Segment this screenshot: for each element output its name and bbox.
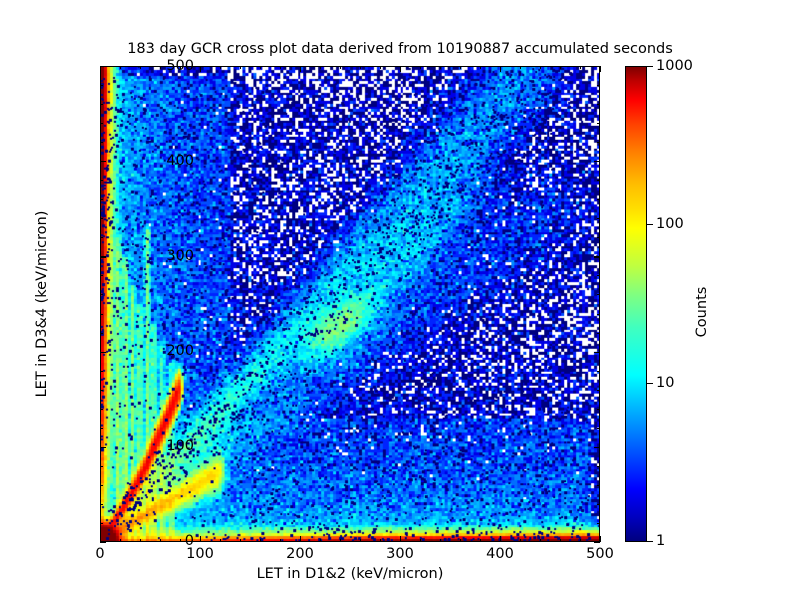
y-minor-tick-right-80: [597, 466, 600, 467]
y-minor-tick-80: [100, 466, 103, 467]
x-major-tick-top-500: [600, 66, 601, 72]
y-minor-tick-380: [100, 180, 103, 181]
colorbar-label-1: 1: [656, 533, 665, 549]
y-minor-tick-280: [100, 275, 103, 276]
x-minor-tick-top-280: [380, 66, 381, 69]
y-minor-tick-160: [100, 390, 103, 391]
y-minor-tick-right-440: [597, 123, 600, 124]
y-major-tick-right-200: [594, 352, 600, 353]
y-major-tick-200: [100, 352, 106, 353]
colorbar-gradient: [625, 66, 647, 542]
y-minor-tick-right-380: [597, 180, 600, 181]
x-minor-tick-360: [460, 539, 461, 542]
colorbar-label-100: 100: [656, 216, 684, 232]
y-minor-tick-120: [100, 428, 103, 429]
x-tick-label-200: 200: [260, 546, 340, 562]
y-major-tick-right-300: [594, 256, 600, 257]
y-minor-tick-right-320: [597, 237, 600, 238]
y-major-tick-right-500: [594, 66, 600, 67]
y-minor-tick-right-340: [597, 218, 600, 219]
y-major-tick-300: [100, 256, 106, 257]
y-minor-tick-right-280: [597, 275, 600, 276]
y-major-tick-right-0: [594, 542, 600, 543]
x-major-tick-100: [200, 536, 201, 542]
y-minor-tick-220: [100, 333, 103, 334]
y-minor-tick-40: [100, 504, 103, 505]
y-minor-tick-right-240: [597, 314, 600, 315]
y-minor-tick-140: [100, 409, 103, 410]
density-scatter-canvas: [101, 67, 599, 541]
title-line-1: 183 day GCR cross plot data derived from…: [0, 41, 800, 59]
x-tick-label-400: 400: [460, 546, 540, 562]
x-minor-tick-top-160: [260, 66, 261, 69]
colorbar-tick-1: [647, 541, 653, 542]
x-major-tick-500: [600, 536, 601, 542]
y-minor-tick-440: [100, 123, 103, 124]
x-major-tick-200: [300, 536, 301, 542]
x-minor-tick-top-240: [340, 66, 341, 69]
x-minor-tick-top-140: [240, 66, 241, 69]
x-axis-title: LET in D1&2 (keV/micron): [100, 566, 600, 582]
x-minor-tick-260: [360, 539, 361, 542]
y-minor-tick-180: [100, 371, 103, 372]
x-minor-tick-460: [560, 539, 561, 542]
y-major-tick-500: [100, 66, 106, 67]
x-minor-tick-120: [220, 539, 221, 542]
x-minor-tick-480: [580, 539, 581, 542]
y-minor-tick-right-60: [597, 485, 600, 486]
y-minor-tick-60: [100, 485, 103, 486]
y-minor-tick-right-460: [597, 104, 600, 105]
y-minor-tick-360: [100, 199, 103, 200]
y-tick-label-200: 200: [114, 343, 194, 359]
colorbar-label-10: 10: [656, 375, 674, 391]
x-minor-tick-220: [320, 539, 321, 542]
x-major-tick-300: [400, 536, 401, 542]
x-tick-label-0: 0: [60, 546, 140, 562]
colorbar-tick-10: [647, 383, 653, 384]
y-tick-label-400: 400: [114, 153, 194, 169]
colorbar-tick-100: [647, 224, 653, 225]
x-minor-tick-top-420: [520, 66, 521, 69]
x-minor-tick-top-260: [360, 66, 361, 69]
y-tick-label-500: 500: [114, 58, 194, 74]
y-minor-tick-right-40: [597, 504, 600, 505]
colorbar-title: Counts: [694, 202, 710, 422]
x-minor-tick-380: [480, 539, 481, 542]
y-minor-tick-460: [100, 104, 103, 105]
colorbar-tick-1000: [647, 66, 653, 67]
x-minor-tick-top-180: [280, 66, 281, 69]
y-minor-tick-right-220: [597, 333, 600, 334]
y-minor-tick-right-480: [597, 85, 600, 86]
x-minor-tick-top-340: [440, 66, 441, 69]
y-major-tick-right-400: [594, 161, 600, 162]
x-minor-tick-140: [240, 539, 241, 542]
x-major-tick-top-300: [400, 66, 401, 72]
y-major-tick-400: [100, 161, 106, 162]
x-minor-tick-420: [520, 539, 521, 542]
x-minor-tick-240: [340, 539, 341, 542]
scatter-plot-area[interactable]: [100, 66, 600, 542]
x-minor-tick-340: [440, 539, 441, 542]
x-minor-tick-top-360: [460, 66, 461, 69]
x-minor-tick-top-120: [220, 66, 221, 69]
x-minor-tick-top-320: [420, 66, 421, 69]
x-minor-tick-320: [420, 539, 421, 542]
x-minor-tick-top-440: [540, 66, 541, 69]
x-minor-tick-180: [280, 539, 281, 542]
y-minor-tick-320: [100, 237, 103, 238]
x-minor-tick-top-380: [480, 66, 481, 69]
x-tick-label-500: 500: [560, 546, 640, 562]
x-tick-label-300: 300: [360, 546, 440, 562]
y-minor-tick-right-360: [597, 199, 600, 200]
y-tick-label-300: 300: [114, 248, 194, 264]
x-minor-tick-160: [260, 539, 261, 542]
y-minor-tick-240: [100, 314, 103, 315]
x-tick-label-100: 100: [160, 546, 240, 562]
colorbar-label-1000: 1000: [656, 58, 693, 74]
x-major-tick-top-400: [500, 66, 501, 72]
y-major-tick-0: [100, 542, 106, 543]
x-minor-tick-top-460: [560, 66, 561, 69]
y-minor-tick-420: [100, 142, 103, 143]
x-major-tick-top-200: [300, 66, 301, 72]
y-major-tick-right-100: [594, 447, 600, 448]
y-minor-tick-340: [100, 218, 103, 219]
y-minor-tick-right-160: [597, 390, 600, 391]
y-minor-tick-right-140: [597, 409, 600, 410]
y-axis-title: LET in D3&4 (keV/micron): [34, 94, 50, 514]
y-minor-tick-right-20: [597, 523, 600, 524]
x-major-tick-400: [500, 536, 501, 542]
y-tick-label-100: 100: [114, 438, 194, 454]
x-minor-tick-440: [540, 539, 541, 542]
y-minor-tick-right-180: [597, 371, 600, 372]
y-minor-tick-480: [100, 85, 103, 86]
y-minor-tick-right-120: [597, 428, 600, 429]
figure-canvas: 183 day GCR cross plot data derived from…: [0, 0, 800, 600]
x-minor-tick-top-220: [320, 66, 321, 69]
y-major-tick-100: [100, 447, 106, 448]
x-minor-tick-280: [380, 539, 381, 542]
x-major-tick-top-100: [200, 66, 201, 72]
y-minor-tick-260: [100, 294, 103, 295]
x-minor-tick-top-480: [580, 66, 581, 69]
y-minor-tick-20: [100, 523, 103, 524]
y-minor-tick-right-260: [597, 294, 600, 295]
y-minor-tick-right-420: [597, 142, 600, 143]
